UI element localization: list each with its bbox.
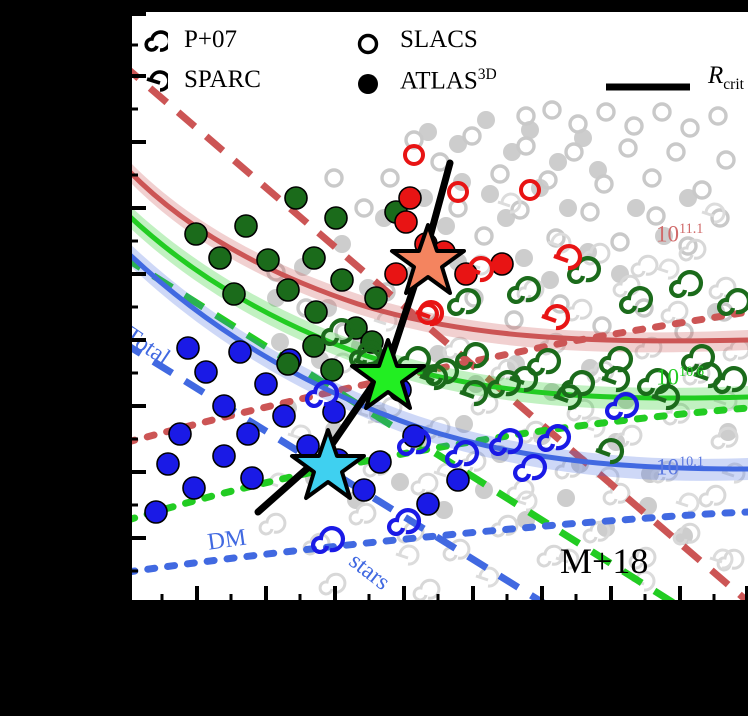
plot-panel: Total DM stars 1011.1 1010.6 1010.1 M+18… (128, 12, 748, 604)
legend-item-rcrit[interactable]: Rcrit (604, 66, 748, 106)
curve-label-red-exp: 11.1 (679, 221, 703, 237)
spiral-barred-icon (138, 70, 168, 100)
corner-annotation: M+18 (560, 540, 648, 582)
legend-item-atlas3d[interactable]: ATLAS3D (356, 66, 566, 106)
legend-label-atlas3d-base: ATLAS (400, 67, 478, 94)
curve-label-green-base: 10 (656, 365, 679, 390)
curve-label-red-base: 10 (656, 222, 679, 247)
figure-root: Total DM stars 1011.1 1010.6 1010.1 M+18… (0, 0, 748, 716)
legend-label-rcrit: Rcrit (708, 62, 744, 94)
solid-line-icon (604, 78, 694, 96)
legend-label-atlas3d-sup: 3D (478, 66, 497, 83)
curve-label-red: 1011.1 (656, 221, 703, 248)
curve-label-green-exp: 10.6 (679, 364, 704, 380)
legend-label-rcrit-sub: crit (723, 76, 744, 93)
legend-label-rcrit-base: R (708, 62, 723, 89)
curve-label-green: 1010.6 (656, 364, 704, 391)
curve-label-blue-exp: 10.1 (679, 454, 704, 470)
legend-label-slacs: SLACS (400, 26, 478, 54)
legend-label-atlas3d: ATLAS3D (400, 66, 497, 95)
legend-item-slacs[interactable]: SLACS (356, 26, 556, 66)
spiral-icon (138, 30, 168, 60)
open-circle-icon (356, 32, 382, 58)
filled-circle-icon (356, 72, 382, 98)
legend-item-sparc[interactable]: SPARC (138, 66, 338, 106)
legend-label-p07: P+07 (184, 26, 237, 54)
curve-label-blue: 1010.1 (656, 454, 704, 481)
curve-label-blue-base: 10 (656, 455, 679, 480)
legend-item-p07[interactable]: P+07 (138, 26, 338, 66)
annotation-dm: DM (206, 525, 248, 557)
legend-label-sparc: SPARC (184, 66, 261, 94)
